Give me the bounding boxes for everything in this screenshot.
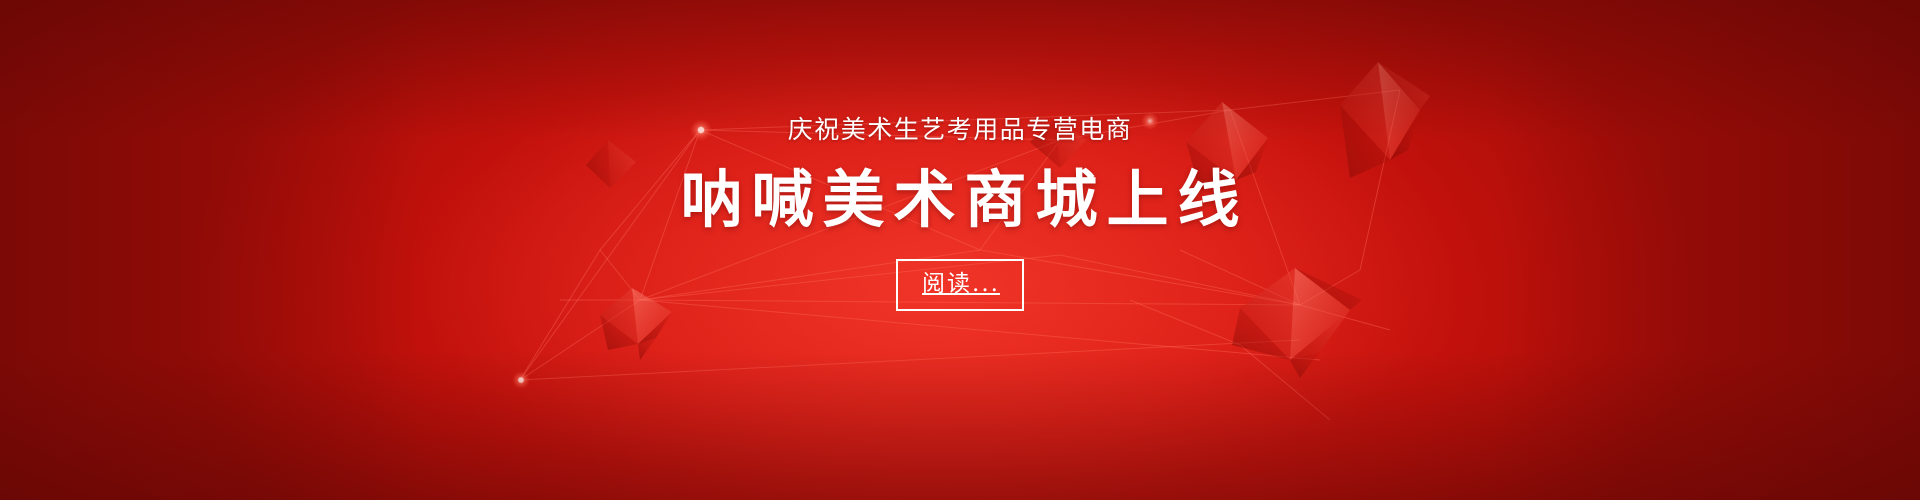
read-more-button[interactable]: 阅读... [896, 259, 1024, 311]
banner-title: 呐喊美术商城上线 [671, 169, 1248, 231]
banner-subtitle: 庆祝美术生艺考用品专营电商 [788, 118, 1133, 143]
banner-content: 庆祝美术生艺考用品专营电商 呐喊美术商城上线 阅读... [0, 0, 1920, 500]
cta-container: 阅读... [896, 259, 1024, 311]
promo-banner: 庆祝美术生艺考用品专营电商 呐喊美术商城上线 阅读... [0, 0, 1920, 500]
